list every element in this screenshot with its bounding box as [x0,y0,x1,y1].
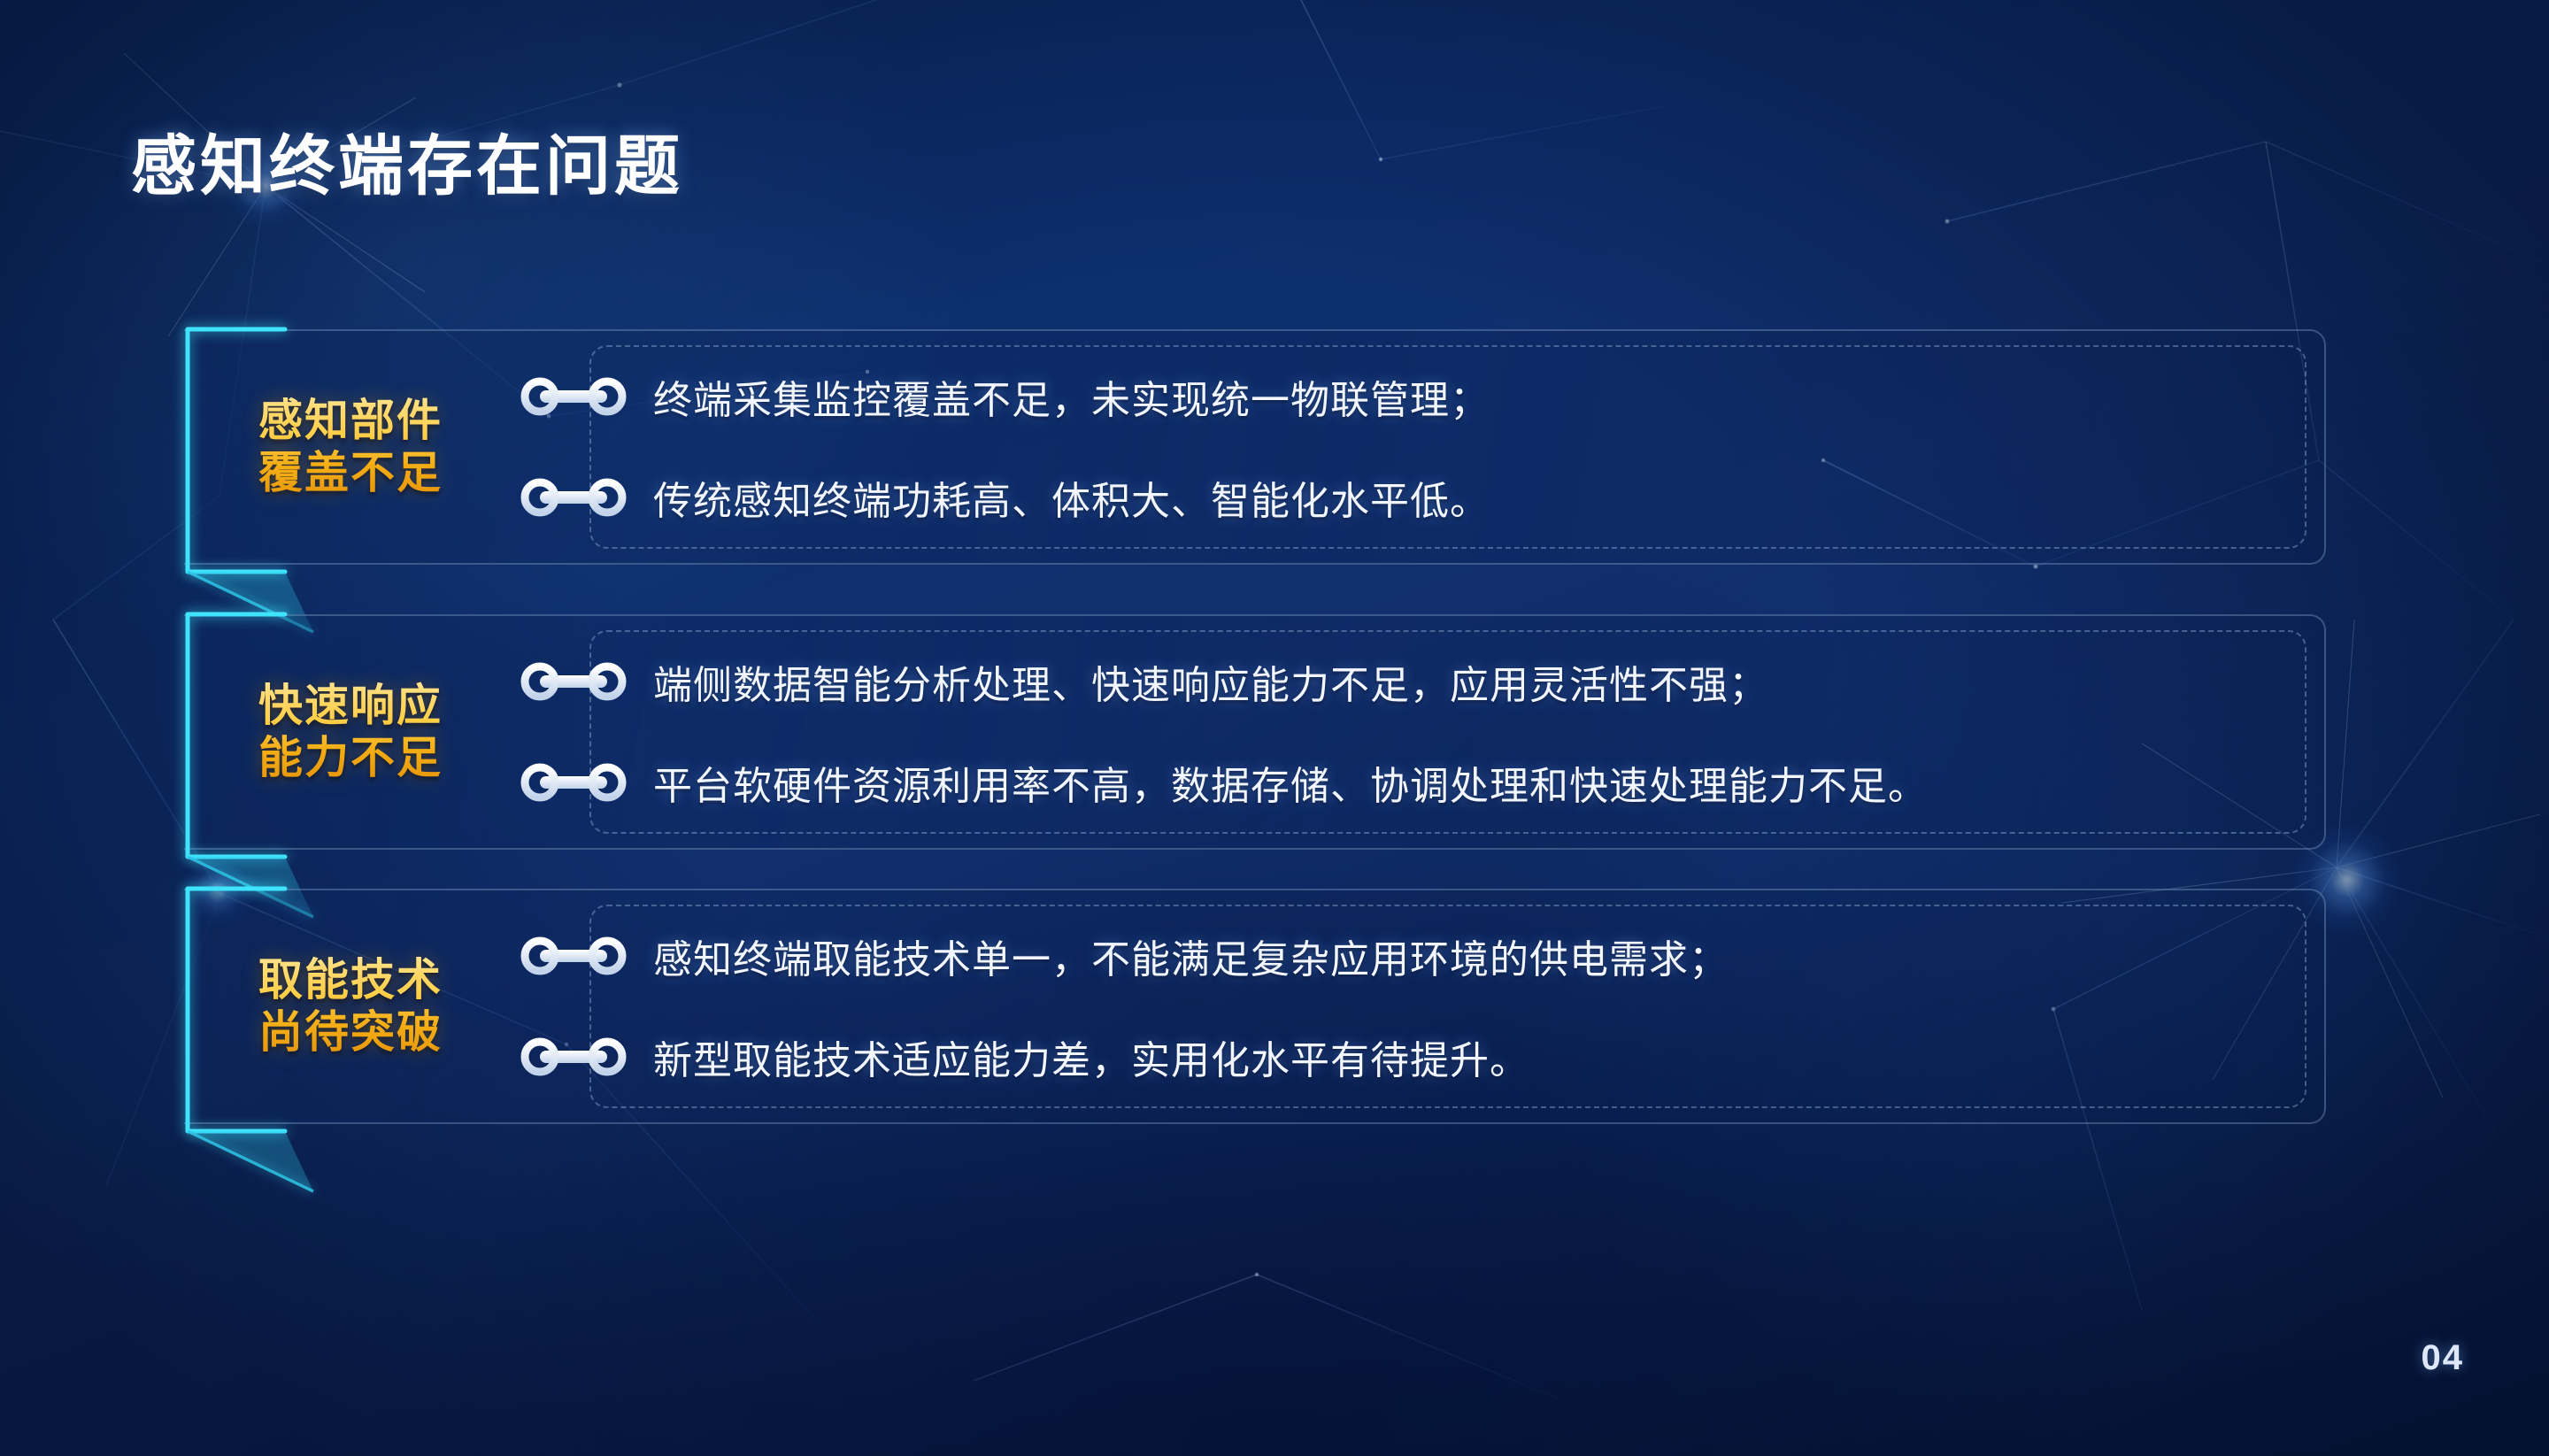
card-label-line-1: 快速响应 [218,680,483,732]
page-number: 04 [2422,1338,2465,1378]
bullet-item: 终端采集监控覆盖不足，未实现统一物联管理； [591,369,2305,424]
card-label-line-2: 能力不足 [218,732,483,784]
bullet-text: 端侧数据智能分析处理、快速响应能力不足，应用灵活性不强； [653,653,1768,710]
card-label-line-2: 覆盖不足 [218,447,483,499]
bullet-item: 端侧数据智能分析处理、快速响应能力不足，应用灵活性不强； [591,654,2305,709]
card-bullets-panel: 端侧数据智能分析处理、快速响应能力不足，应用灵活性不强； 平台软硬件资源利用率不… [589,630,2306,834]
bullet-text: 新型取能技术适应能力差，实用化水平有待提升。 [653,1028,1529,1085]
bullet-item: 传统感知终端功耗高、体积大、智能化水平低。 [591,470,2305,525]
problem-card: 取能技术 尚待突破 感知终端取能技术单一，不能满足复杂应用环境的供电需求； [184,889,2326,1124]
problem-card: 快速响应 能力不足 端侧数据智能分析处理、快速响应能力不足，应用灵活性不强； [184,614,2326,850]
card-label: 取能技术 尚待突破 [218,954,483,1059]
bullet-text: 传统感知终端功耗高、体积大、智能化水平低。 [653,469,1490,526]
dumbbell-link-icon [515,759,632,805]
bullet-item: 感知终端取能技术单一，不能满足复杂应用环境的供电需求； [591,928,2305,983]
card-label-line-1: 感知部件 [218,395,483,447]
bullet-item: 平台软硬件资源利用率不高，数据存储、协调处理和快速处理能力不足。 [591,755,2305,810]
card-bullets-panel: 感知终端取能技术单一，不能满足复杂应用环境的供电需求； 新型取能技术适应能力差，… [589,905,2306,1108]
dumbbell-link-icon [515,1034,632,1080]
card-label: 快速响应 能力不足 [218,680,483,784]
card-label-line-1: 取能技术 [218,954,483,1006]
dumbbell-link-icon [515,374,632,420]
dumbbell-link-icon [515,474,632,520]
page-title: 感知终端存在问题 [131,113,683,208]
bullet-list: 端侧数据智能分析处理、快速响应能力不足，应用灵活性不强； 平台软硬件资源利用率不… [591,632,2305,832]
card-bullets-panel: 终端采集监控覆盖不足，未实现统一物联管理； 传统感知终端功耗高、体积大、智能化水… [589,345,2306,549]
slide-canvas: 感知终端存在问题 感知部件 覆盖不足 [0,0,2549,1456]
dumbbell-link-icon [515,659,632,705]
bullet-list: 终端采集监控覆盖不足，未实现统一物联管理； 传统感知终端功耗高、体积大、智能化水… [591,347,2305,547]
card-label-line-2: 尚待突破 [218,1006,483,1059]
dumbbell-link-icon [515,933,632,979]
bullet-text: 终端采集监控覆盖不足，未实现统一物联管理； [653,368,1490,425]
card-label: 感知部件 覆盖不足 [218,395,483,499]
problem-card: 感知部件 覆盖不足 [184,329,2326,565]
bullet-item: 新型取能技术适应能力差，实用化水平有待提升。 [591,1029,2305,1084]
bullet-text: 平台软硬件资源利用率不高，数据存储、协调处理和快速处理能力不足。 [653,754,1928,811]
bullet-list: 感知终端取能技术单一，不能满足复杂应用环境的供电需求； 新型取能技术适应能力差，… [591,906,2305,1106]
bullet-text: 感知终端取能技术单一，不能满足复杂应用环境的供电需求； [653,928,1729,984]
